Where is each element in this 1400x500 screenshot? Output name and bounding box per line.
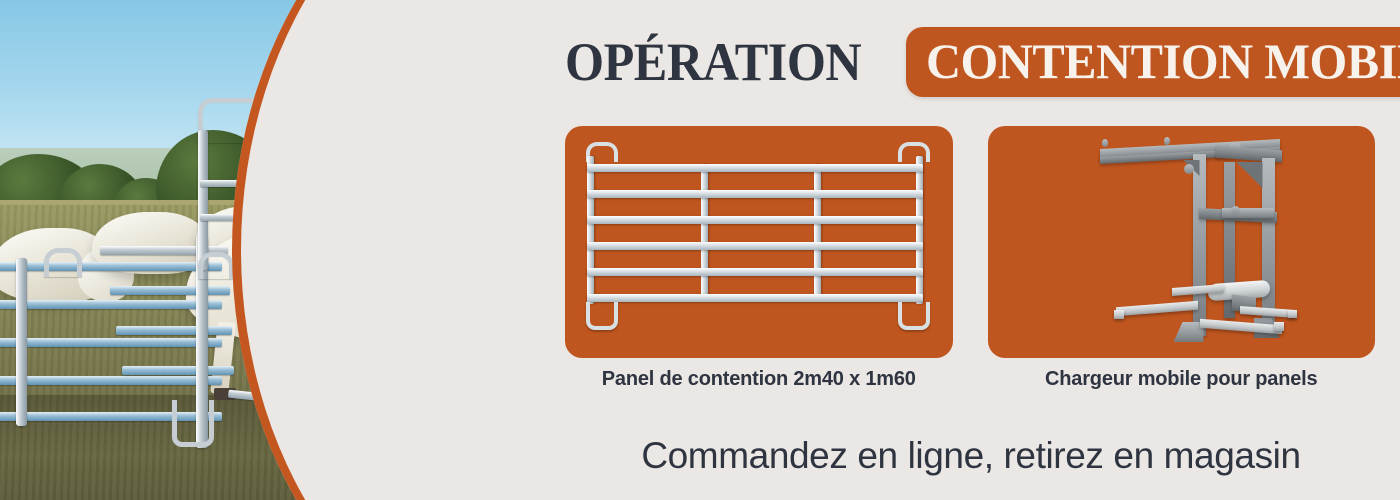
product-captions: Panel de contention 2m40 x 1m60 Chargeur… [565, 368, 1375, 398]
gate-post-left [198, 130, 208, 270]
fence-hoop-right-1 [198, 252, 234, 279]
fence-bar-left-1 [0, 262, 222, 271]
fence-bar-left-3 [0, 338, 222, 347]
headline-word: OPÉRATION [565, 31, 861, 93]
fence-bar-front-2 [110, 286, 230, 295]
cattle-panel-product-image [565, 126, 953, 358]
product-cards [565, 126, 1375, 358]
headline: OPÉRATION CONTENTION MOBILE [565, 26, 1400, 98]
fence-bar-front-4 [122, 366, 234, 375]
promo-banner: OPÉRATION CONTENTION MOBILE [0, 0, 1400, 500]
fence-foot-front [172, 400, 214, 447]
fence-bar-left-2 [0, 300, 222, 309]
product-card-loader[interactable] [988, 126, 1376, 358]
caption-loader: Chargeur mobile pour panels [988, 368, 1376, 398]
headline-badge: CONTENTION MOBILE [906, 27, 1400, 97]
hero-photo [0, 0, 530, 500]
product-card-panel[interactable] [565, 126, 953, 358]
panel-loader-product-image [988, 126, 1376, 358]
fence-bar-left-4 [0, 376, 222, 385]
fence-bar-front-3 [116, 326, 232, 335]
fence-post-left [16, 258, 27, 426]
tagline: Commandez en ligne, retirez en magasin [565, 435, 1377, 477]
headline-badge-label: CONTENTION MOBILE [926, 36, 1400, 86]
caption-panel: Panel de contention 2m40 x 1m60 [565, 368, 953, 398]
fence-hoop-left [44, 248, 82, 277]
